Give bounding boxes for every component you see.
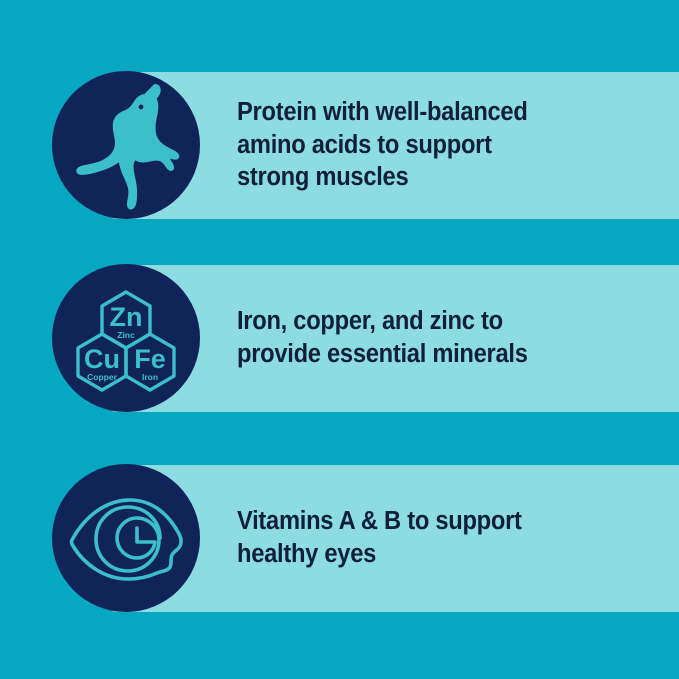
benefit-text-protein: Protein with well-balanced amino acids t… — [237, 96, 648, 195]
benefit-row-vitamins: Vitamins A & B to support healthy eyes — [0, 464, 679, 612]
minerals-hexagons-icon: Zn Zinc Cu Copper Fe Iron — [52, 264, 200, 412]
mineral-symbol-zn: Zn — [110, 302, 143, 332]
dog-silhouette-icon — [52, 71, 200, 219]
benefit-text-vitamins: Vitamins A & B to support healthy eyes — [237, 505, 648, 571]
benefit-row-protein: Protein with well-balanced amino acids t… — [0, 71, 679, 219]
mineral-name-copper: Copper — [87, 372, 117, 382]
minerals-hexagons-icon-badge: Zn Zinc Cu Copper Fe Iron — [52, 264, 200, 412]
eye-outline-icon-badge — [52, 464, 200, 612]
eye-outline-icon — [52, 464, 200, 612]
benefits-infographic: Protein with well-balanced amino acids t… — [0, 0, 679, 679]
benefit-row-minerals: Zn Zinc Cu Copper Fe Iron Iron, copper, … — [0, 264, 679, 412]
mineral-symbol-cu: Cu — [84, 344, 120, 374]
mineral-name-iron: Iron — [142, 372, 158, 382]
mineral-symbol-fe: Fe — [134, 344, 166, 374]
dog-silhouette-icon-badge — [52, 71, 200, 219]
benefit-text-minerals: Iron, copper, and zinc to provide essent… — [237, 305, 648, 371]
mineral-name-zinc: Zinc — [117, 330, 135, 340]
